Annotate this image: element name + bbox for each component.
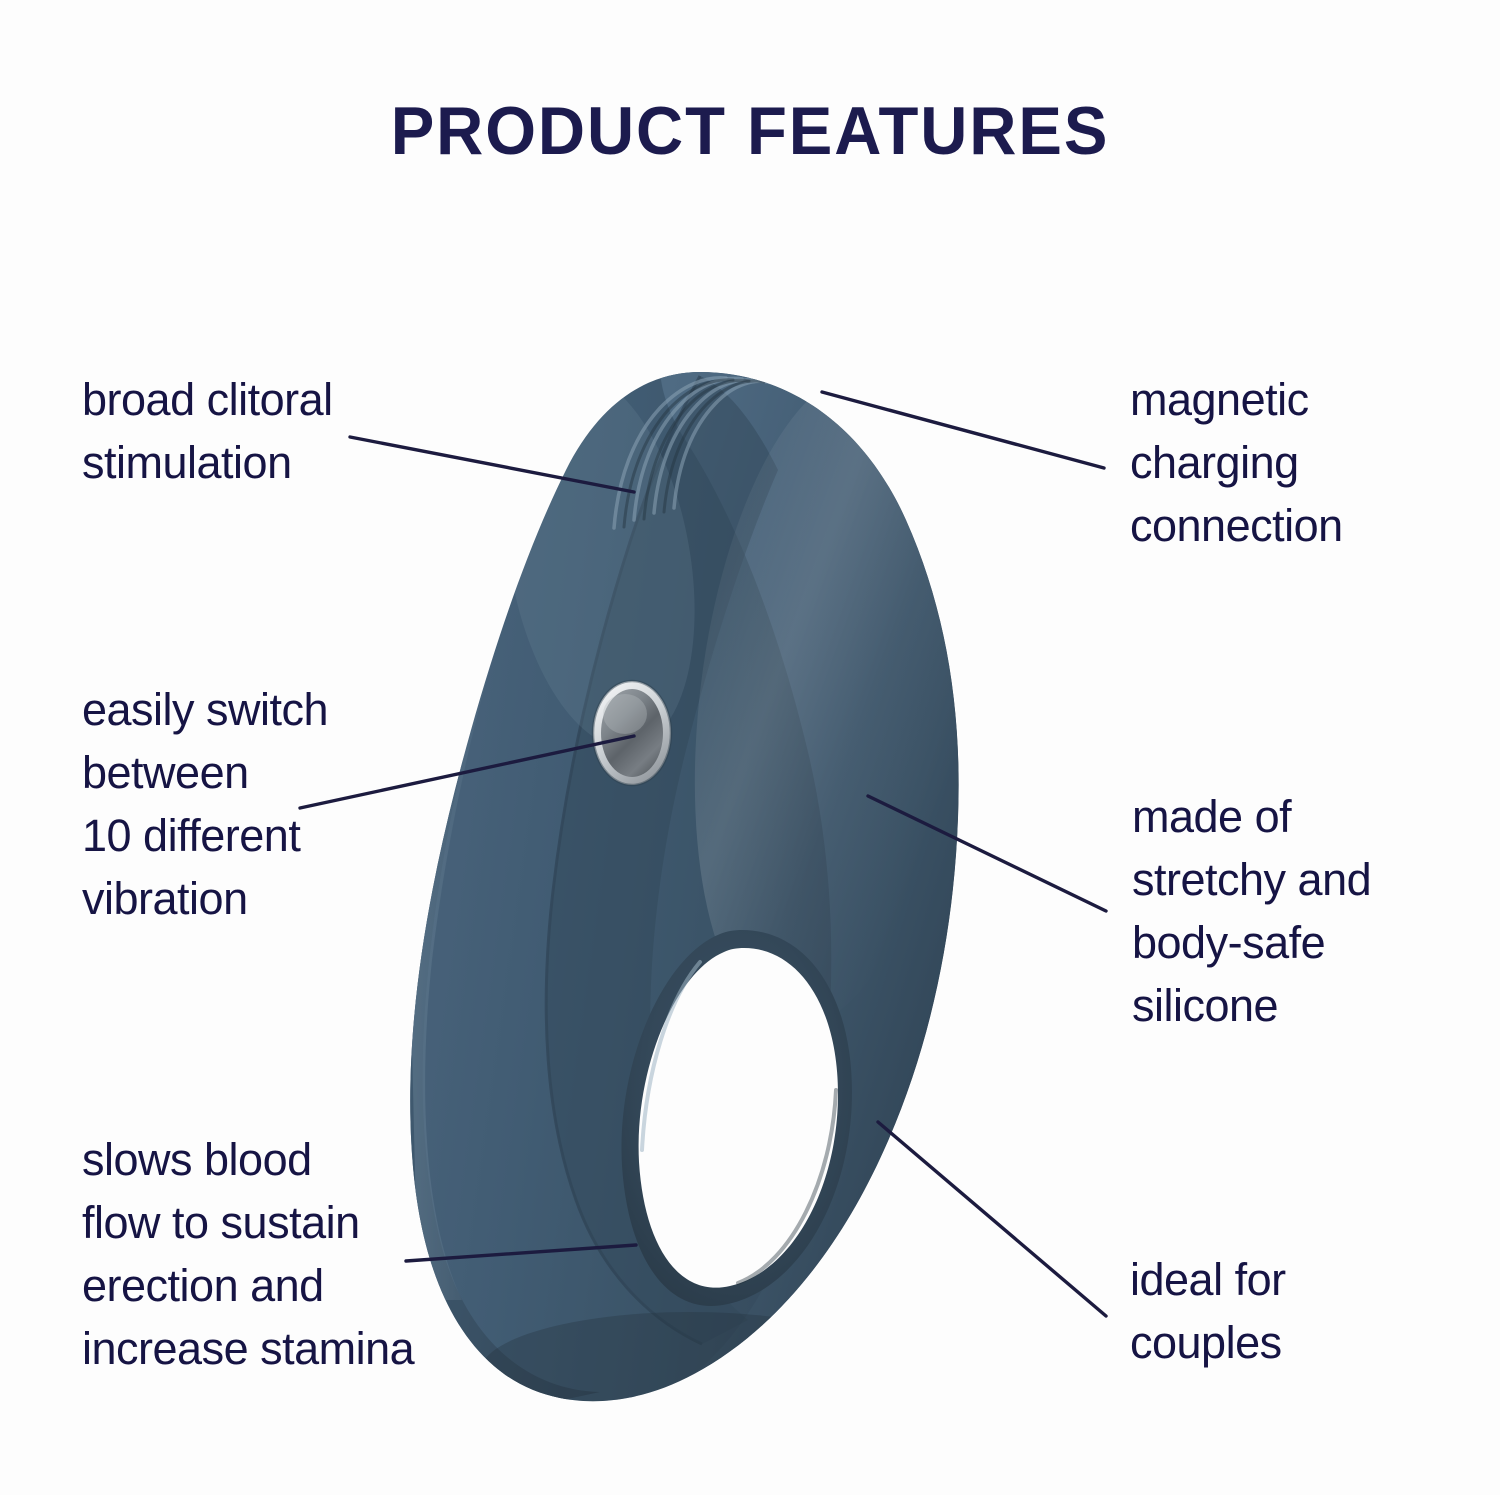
power-button[interactable] bbox=[593, 681, 671, 785]
callout-broad-clitoral-stimulation: broad clitoral stimulation bbox=[82, 368, 512, 494]
callout-body-safe-silicone: made of stretchy and body-safe silicone bbox=[1132, 785, 1500, 1037]
power-button-gloss bbox=[603, 694, 647, 734]
product-features-infographic: PRODUCT FEATURES bbox=[0, 0, 1500, 1495]
callout-ideal-for-couples: ideal for couples bbox=[1130, 1248, 1500, 1374]
callout-easily-switch-vibration: easily switch between 10 different vibra… bbox=[82, 678, 512, 930]
callout-magnetic-charging: magnetic charging connection bbox=[1130, 368, 1500, 557]
callout-slows-blood-flow: slows blood flow to sustain erection and… bbox=[82, 1128, 562, 1380]
